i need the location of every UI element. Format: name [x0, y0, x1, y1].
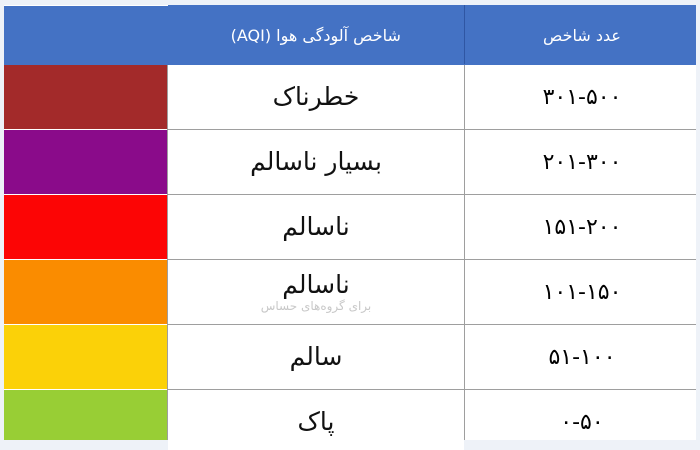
- cell-color: [0, 195, 168, 260]
- cell-category-label: سالم: [168, 344, 464, 370]
- cell-category: بسیار ناسالم: [168, 130, 465, 195]
- cell-category-label: بسیار ناسالم: [168, 149, 464, 175]
- cell-color: [0, 325, 168, 390]
- page-edge-right: [696, 0, 700, 450]
- color-swatch: [0, 195, 167, 259]
- color-swatch: [0, 260, 167, 324]
- cell-category-label: پاک: [168, 409, 464, 435]
- cell-range: ۲۰۱-۳۰۰: [465, 130, 700, 195]
- aqi-table-container: عدد شاخص شاخص آلودگی هوا (AQI) ۳۰۱-۵۰۰ خ…: [0, 0, 700, 450]
- page-edge-left: [0, 0, 4, 450]
- header-cell-aqi-title: شاخص آلودگی هوا (AQI): [168, 6, 465, 65]
- header-row: عدد شاخص شاخص آلودگی هوا (AQI): [0, 6, 700, 65]
- cell-category-label: ناسالم: [168, 272, 464, 298]
- cell-range: ۱۰۱-۱۵۰: [465, 260, 700, 325]
- cell-range: ۳۰۱-۵۰۰: [465, 65, 700, 130]
- cell-category: سالم: [168, 325, 465, 390]
- cell-category: پاک: [168, 390, 465, 450]
- header-cell-index-number: عدد شاخص: [465, 6, 700, 65]
- cell-color: [0, 65, 168, 130]
- cell-color: [0, 130, 168, 195]
- cell-category-label: ناسالم: [168, 214, 464, 240]
- cell-range: ۵۱-۱۰۰: [465, 325, 700, 390]
- cell-category-sublabel: برای گروه‌های حساس: [168, 300, 464, 313]
- cell-range: ۱۵۱-۲۰۰: [465, 195, 700, 260]
- table-header: عدد شاخص شاخص آلودگی هوا (AQI): [0, 6, 700, 65]
- color-swatch: [0, 130, 167, 194]
- color-swatch: [0, 325, 167, 389]
- aqi-index-table: عدد شاخص شاخص آلودگی هوا (AQI) ۳۰۱-۵۰۰ خ…: [0, 5, 700, 450]
- page-edge-top: [0, 0, 700, 5]
- table-row: ۵۱-۱۰۰ سالم: [0, 325, 700, 390]
- table-row: ۳۰۱-۵۰۰ خطرناک: [0, 65, 700, 130]
- table-row: ۱۵۱-۲۰۰ ناسالم: [0, 195, 700, 260]
- color-swatch: [0, 65, 167, 129]
- cell-category: ناسالم برای گروه‌های حساس: [168, 260, 465, 325]
- cell-category: خطرناک: [168, 65, 465, 130]
- header-cell-color-swatch: [0, 6, 168, 65]
- table-row: ۱۰۱-۱۵۰ ناسالم برای گروه‌های حساس: [0, 260, 700, 325]
- table-row: ۲۰۱-۳۰۰ بسیار ناسالم: [0, 130, 700, 195]
- cell-category: ناسالم: [168, 195, 465, 260]
- cell-color: [0, 260, 168, 325]
- cell-category-label: خطرناک: [168, 84, 464, 110]
- table-body: ۳۰۱-۵۰۰ خطرناک ۲۰۱-۳۰۰ بسیار ناسالم ۱۵۱-…: [0, 65, 700, 450]
